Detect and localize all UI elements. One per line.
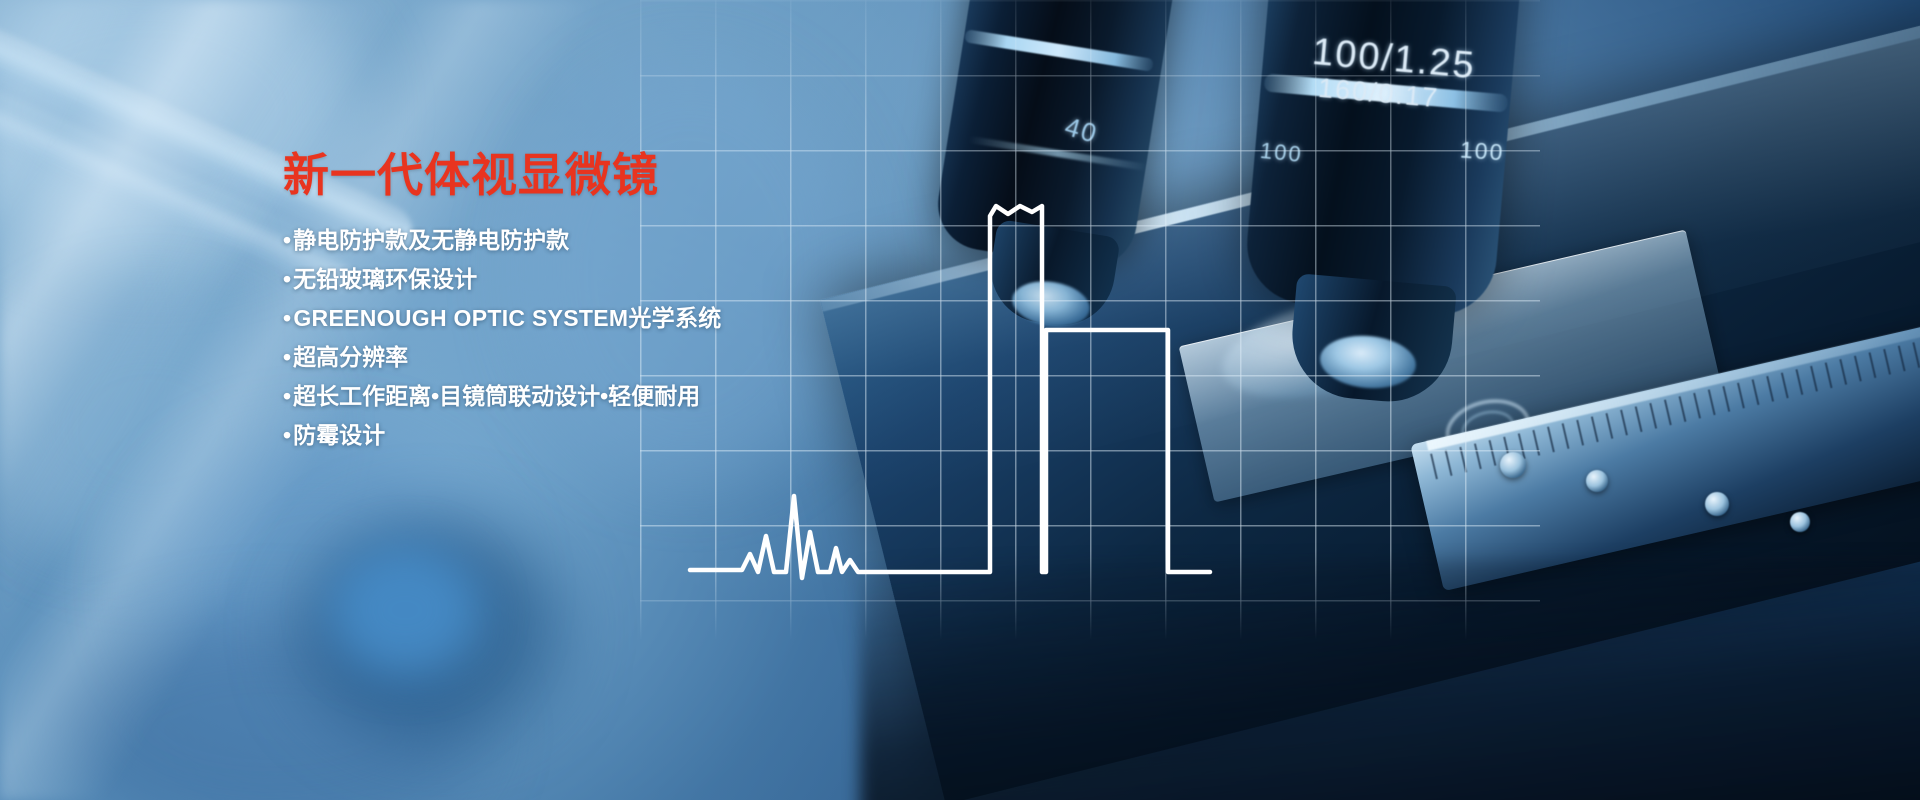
list-item: •超高分辨率 [283,346,1043,369]
page-title: 新一代体视显微镜 [283,150,1043,201]
list-item: •静电防护款及无静电防护款 [283,229,1043,252]
stage-screw [1790,512,1810,532]
list-item-label: 静电防护款及无静电防护款 [293,227,569,253]
stage-screw [1705,492,1729,516]
list-item-label: 超长工作距离•目镜筒联动设计•轻便耐用 [293,383,700,409]
list-item-label: 防霉设计 [293,422,385,448]
bullet-icon: • [283,307,291,330]
list-item: •GREENOUGH OPTIC SYSTEM光学系统 [283,307,1043,330]
list-item: •无铅玻璃环保设计 [283,268,1043,291]
bullet-icon: • [283,229,291,252]
bullet-icon: • [283,424,291,447]
feature-list: •静电防护款及无静电防护款 •无铅玻璃环保设计 •GREENOUGH OPTIC… [283,229,1043,447]
list-item: •防霉设计 [283,424,1043,447]
bullet-icon: • [283,346,291,369]
list-item-label: 无铅玻璃环保设计 [293,266,477,292]
bullet-icon: • [283,385,291,408]
product-hero-banner: 100/1.25 160/0.17 40 100 100 新一代体视显微镜 •静… [0,0,1920,800]
bullet-icon: • [283,268,291,291]
stage-screw [1586,470,1608,492]
list-item-label: GREENOUGH OPTIC SYSTEM光学系统 [293,305,721,331]
list-item: •超长工作距离•目镜筒联动设计•轻便耐用 [283,385,1043,408]
hero-copy-block: 新一代体视显微镜 •静电防护款及无静电防护款 •无铅玻璃环保设计 •GREENO… [283,150,1043,463]
list-item-label: 超高分辨率 [293,344,408,370]
